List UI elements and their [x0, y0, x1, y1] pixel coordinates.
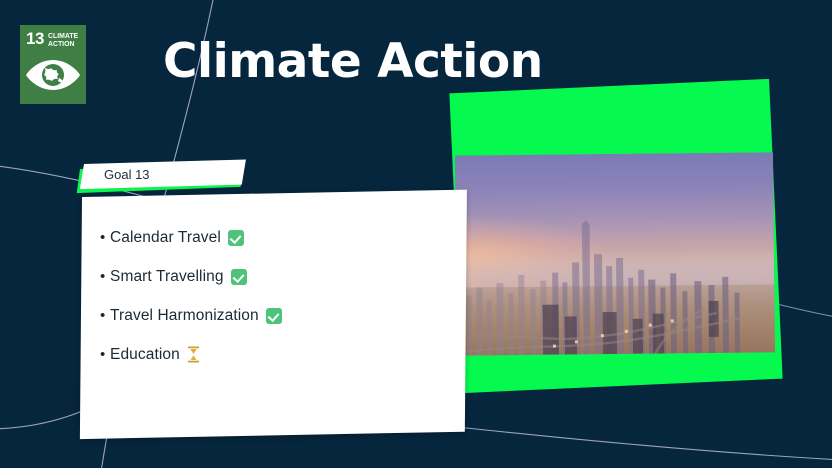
sdg-logo-heading: 13 CLIMATE ACTION	[20, 25, 86, 48]
list-item-label: Education	[110, 346, 180, 364]
white-check-mark-icon	[266, 308, 282, 324]
city-skyline-photo	[455, 152, 775, 355]
list-item-label: Travel Harmonization	[110, 307, 259, 325]
white-check-mark-icon	[228, 230, 244, 246]
goal-tab-label: Goal 13	[104, 167, 150, 183]
bullet-icon: •	[100, 230, 110, 245]
sdg-wordmark: CLIMATE ACTION	[48, 32, 81, 48]
list-item[interactable]: • Calendar Travel	[100, 218, 468, 257]
list-item[interactable]: • Smart Travelling	[100, 257, 468, 296]
bullet-icon: •	[100, 347, 110, 362]
sdg-word-line-2: ACTION	[48, 40, 78, 48]
checklist: • Calendar Travel • Smart Travelling • T…	[88, 204, 468, 434]
list-item-label: Calendar Travel	[110, 229, 221, 247]
photo-block	[456, 86, 786, 391]
list-item-label: Smart Travelling	[110, 268, 224, 286]
sdg-number: 13	[26, 31, 44, 46]
list-item[interactable]: • Education	[100, 335, 468, 374]
bullet-icon: •	[100, 308, 110, 323]
bullet-icon: •	[100, 269, 110, 284]
sdg-13-logo: 13 CLIMATE ACTION	[20, 25, 86, 104]
white-check-mark-icon	[231, 269, 247, 285]
photo-skyline-shapes	[455, 152, 775, 355]
eye-globe-icon	[20, 46, 86, 104]
hourglass-icon	[187, 346, 200, 363]
page-title: Climate Action	[163, 36, 543, 88]
list-item[interactable]: • Travel Harmonization	[100, 296, 468, 335]
slide-canvas: 13 CLIMATE ACTION Climate Action	[0, 0, 832, 468]
goal-tab[interactable]: Goal 13	[76, 161, 248, 195]
